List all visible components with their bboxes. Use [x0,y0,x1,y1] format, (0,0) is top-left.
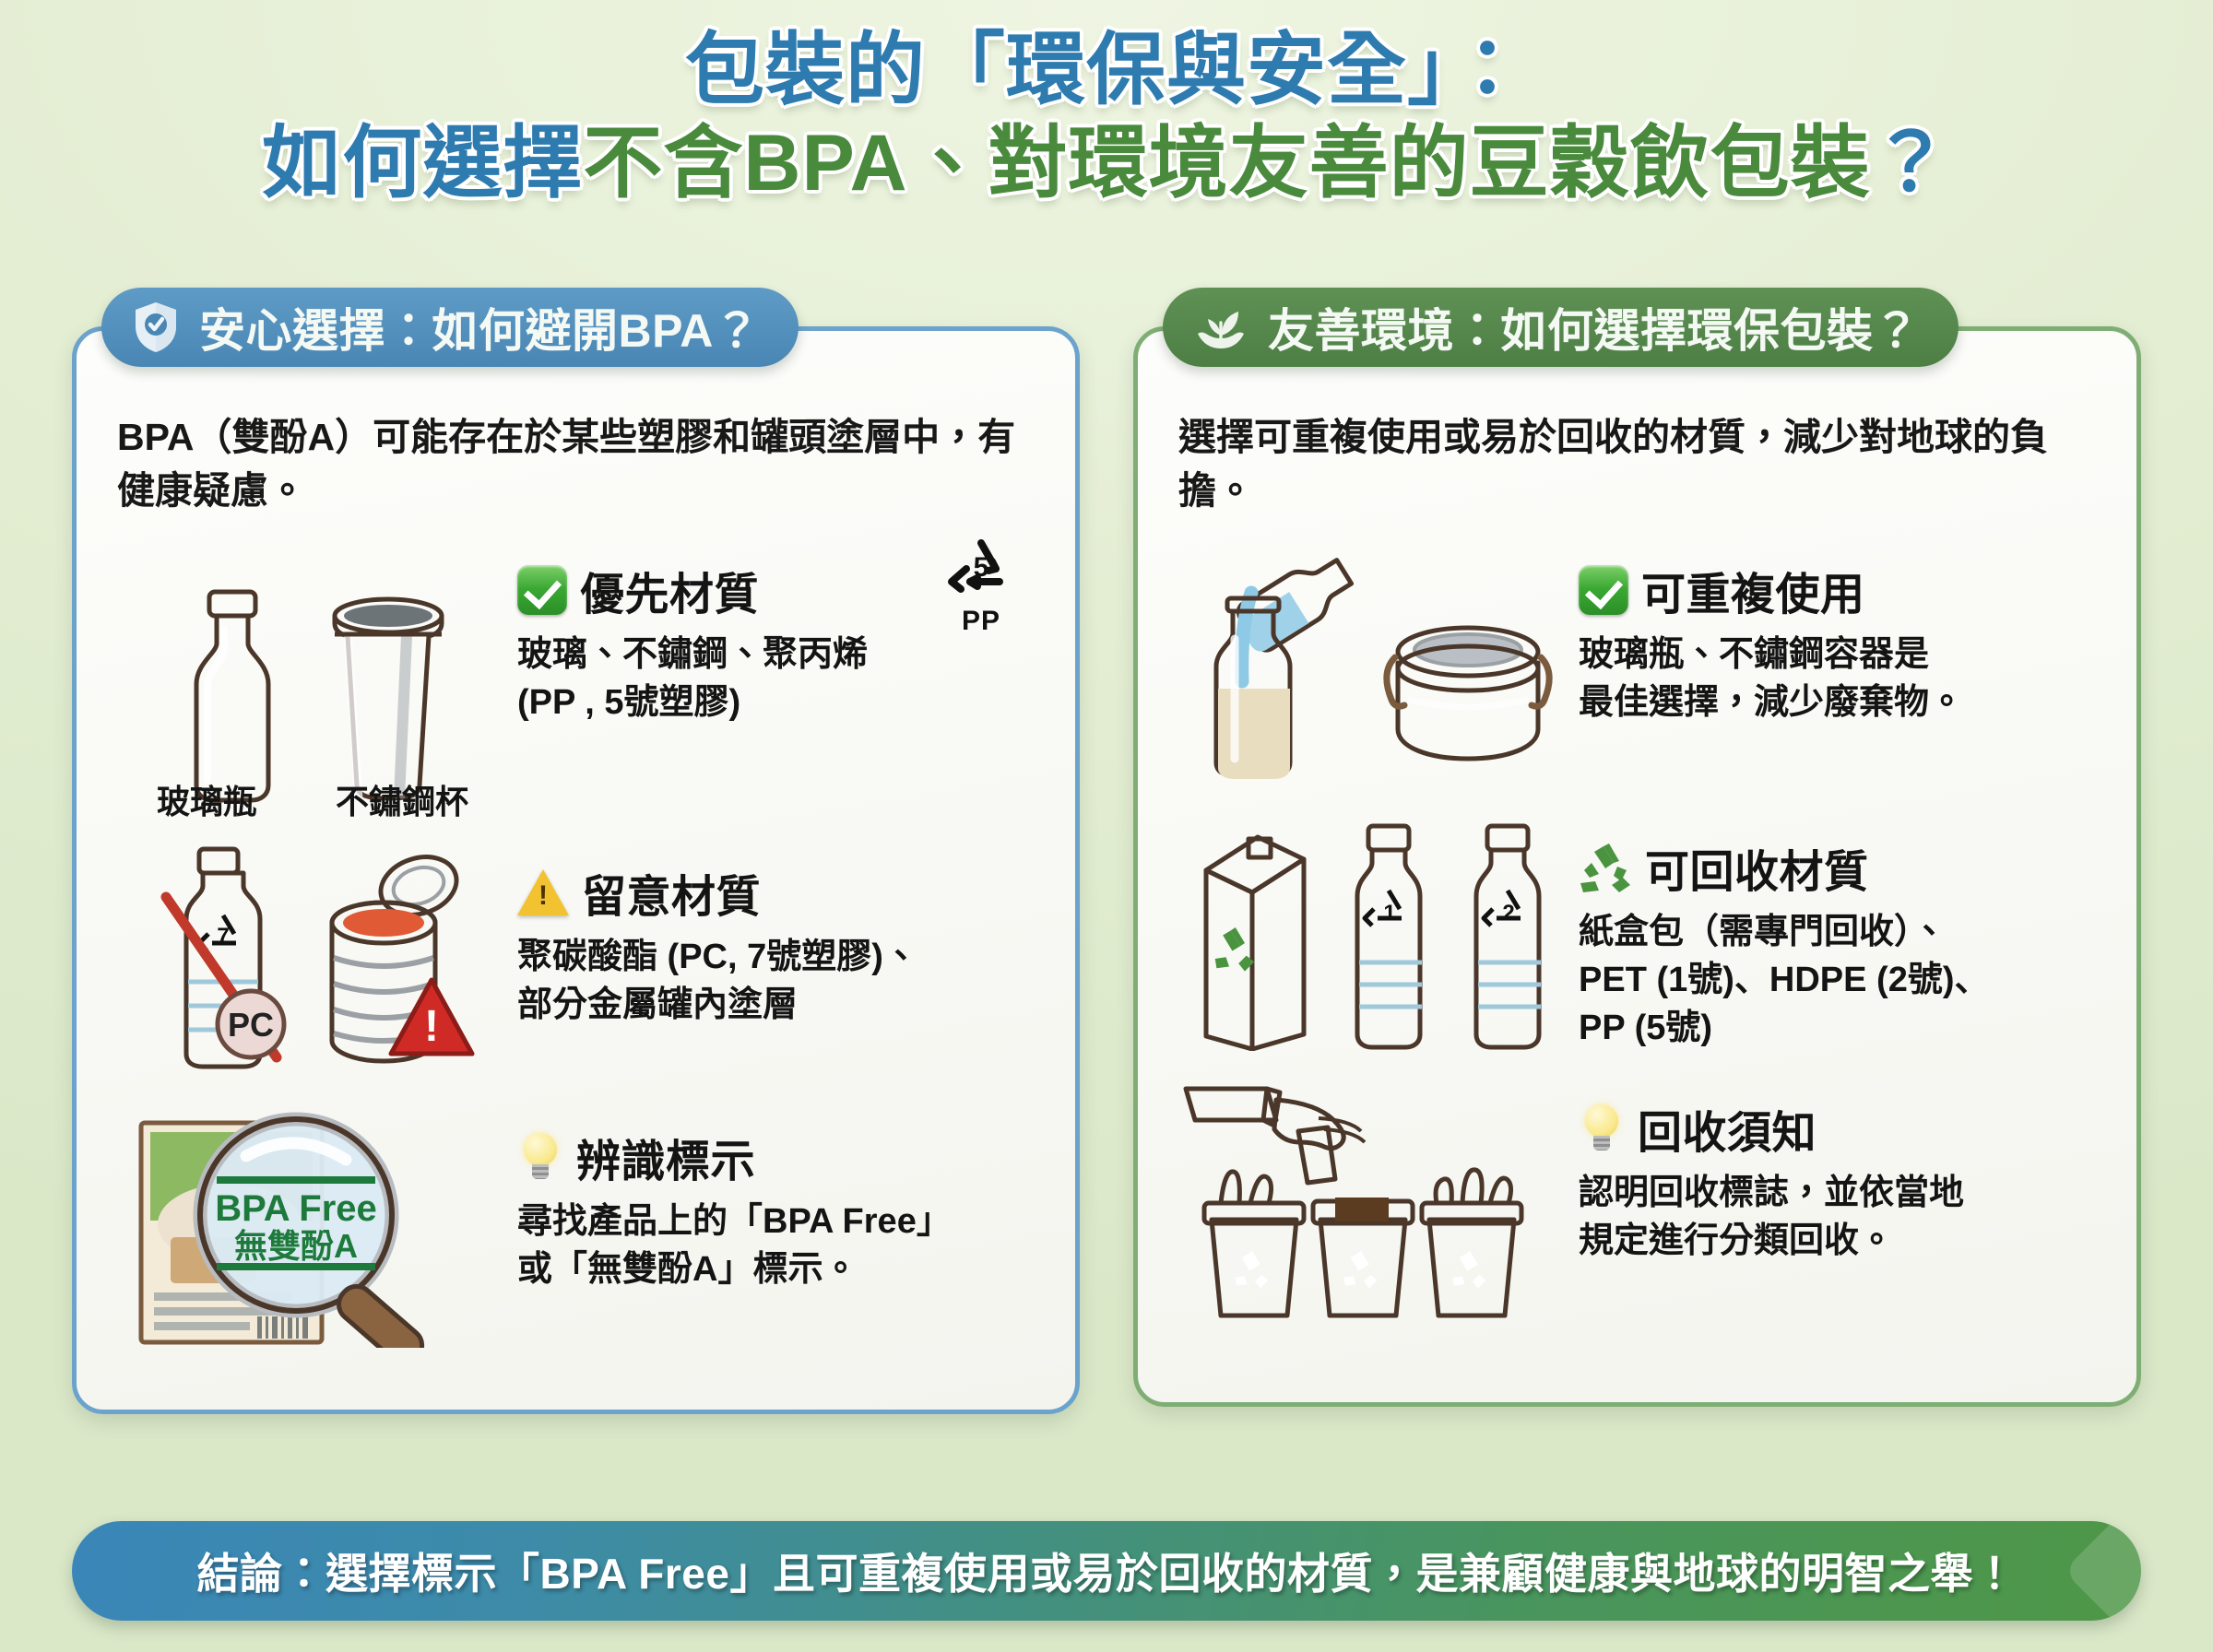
left-section-priority-materials: 玻璃瓶 不鏽鋼杯 5 [117,541,1035,818]
left-section-caution-materials: 7 PC [117,844,1035,1086]
pc-bottle-and-can-illustration: 7 PC [117,844,508,1086]
left-section-2-title: 留意材質 [582,860,761,925]
conclusion-text: 結論：選擇標示「BPA Free」且可重複使用或易於回收的材質，是兼顧健康與地球… [197,1540,2017,1601]
left-section-1-title: 優先材質 [580,558,759,622]
poster-title: 包裝的「環保與安全」： 如何選擇不含BPA、對環境友善的豆穀飲包裝？ [0,0,2213,211]
left-card-header: 安心選擇：如何避開BPA？ [101,288,799,367]
green-check-icon [1579,565,1628,615]
title-line-2-part-b: 不含BPA、對環境友善的豆穀飲包裝 [583,119,1870,207]
right-section-3-body: 認明回收標誌，並依當地 規定進行分類回收。 [1579,1170,2096,1265]
right-section-2-copy: 可回收材質 紙盒包（需專門回收）、 PET (1號)、HDPE (2號)、 PP… [1579,819,2096,1052]
right-section-recycling-tips: 回收須知 認明回收標誌，並依當地 規定進行分類回收。 [1178,1080,2096,1339]
svg-text:BPA Free: BPA Free [215,1188,377,1229]
right-section-2-body: 紙盒包（需專門回收）、 PET (1號)、HDPE (2號)、 PP (5號) [1579,909,2096,1052]
right-card: 選擇可重複使用或易於回收的材質，減少對地球的負擔。 [1133,326,2141,1407]
green-check-icon [517,565,567,615]
right-section-3-heading: 回收須知 [1579,1096,2096,1161]
bpa-free-label-magnifier-illustration: BPA Free 無雙酚A [117,1108,508,1360]
hdpe-bottle-number-2-icon: 2 [1456,819,1562,1056]
lightbulb-icon [1579,1103,1625,1154]
carton-and-pet-hdpe-bottles-illustration: 1 [1178,819,1569,1063]
svg-text:2: 2 [1502,901,1514,926]
pouring-bottle-icon [1183,541,1358,784]
left-section-3-body: 尋找產品上的「BPA Free」 或「無雙酚A」標示。 [517,1198,1035,1293]
glass-bottle-and-steel-cup-illustration: 玻璃瓶 不鏽鋼杯 [117,541,508,818]
left-card-intro: BPA（雙酚A）可能存在於某些塑膠和罐頭塗層中，有健康疑慮。 [117,410,1035,517]
left-section-identify-label: BPA Free 無雙酚A 辨識標示 尋找產品上的「BPA Fre [117,1108,1035,1360]
left-section-2-copy: 留意材質 聚碳酸酯 (PC, 7號塑膠)、 部分金屬罐內塗層 [517,844,1035,1029]
left-section-3-copy: 辨識標示 尋找產品上的「BPA Free」 或「無雙酚A」標示。 [517,1108,1035,1293]
right-section-recyclable: 1 [1178,819,2096,1063]
title-line-2: 如何選擇不含BPA、對環境友善的豆穀飲包裝？ [0,117,2213,210]
svg-text:!: ! [424,1002,439,1051]
infographic-poster: 包裝的「環保與安全」： 如何選擇不含BPA、對環境友善的豆穀飲包裝？ 安心選擇：… [0,0,2213,1652]
left-column: 安心選擇：如何避開BPA？ BPA（雙酚A）可能存在於某些塑膠和罐頭塗層中，有健… [72,288,1080,1414]
left-card: BPA（雙酚A）可能存在於某些塑膠和罐頭塗層中，有健康疑慮。 [72,326,1080,1414]
refill-bottle-and-steel-jar-illustration [1178,541,1569,791]
conclusion-banner: 結論：選擇標示「BPA Free」且可重複使用或易於回收的材質，是兼顧健康與地球… [72,1521,2141,1621]
product-label-with-magnifier-icon: BPA Free 無雙酚A [128,1108,497,1352]
warning-triangle-icon [517,869,569,915]
svg-text:7: 7 [217,924,229,949]
title-line-1: 包裝的「環保與安全」： [0,24,2213,117]
hand-and-three-bins-icon [1180,1080,1568,1331]
left-section-1-body: 玻璃、不鏽鋼、聚丙烯 (PP , 5號塑膠) [517,631,1035,726]
right-section-2-title: 可回收材質 [1645,835,1869,900]
left-section-2-heading: 留意材質 [517,860,1035,925]
title-line-2-part-c: ？ [1871,119,1951,207]
right-section-1-copy: 可重複使用 玻璃瓶、不鏽鋼容器是 最佳選擇，減少廢棄物。 [1579,541,2096,726]
pc-plastic-bottle-icon: 7 PC [149,844,297,1079]
right-card-header-label: 友善環境：如何選擇環保包裝？ [1268,294,1920,360]
caption-steel-cup: 不鏽鋼杯 [336,775,468,823]
right-section-3-title: 回收須知 [1638,1096,1817,1161]
right-card-intro: 選擇可重複使用或易於回收的材質，減少對地球的負擔。 [1178,410,2096,517]
shield-check-icon [133,301,179,354]
right-section-1-title: 可重複使用 [1641,558,1865,622]
right-card-header: 友善環境：如何選擇環保包裝？ [1163,288,1959,367]
left-section-3-heading: 辨識標示 [517,1125,1035,1189]
right-section-2-heading: 可回收材質 [1579,835,2096,900]
left-card-header-label: 安心選擇：如何避開BPA？ [199,294,760,360]
cards-container: 安心選擇：如何避開BPA？ BPA（雙酚A）可能存在於某些塑膠和罐頭塗層中，有健… [72,288,2141,1414]
right-section-3-copy: 回收須知 認明回收標誌，並依當地 規定進行分類回收。 [1579,1080,2096,1265]
right-column: 友善環境：如何選擇環保包裝？ 選擇可重複使用或易於回收的材質，減少對地球的負擔。 [1133,288,2141,1414]
title-line-2-part-a: 如何選擇 [262,119,583,207]
metal-can-with-warning-icon: ! [310,844,476,1079]
caption-glass-bottle: 玻璃瓶 [157,775,256,823]
svg-text:5: 5 [974,552,989,583]
pp-recycling-mark: 5 PP [933,534,1029,637]
svg-text:PC: PC [228,1006,274,1044]
svg-text:1: 1 [1383,901,1395,926]
right-section-1-heading: 可重複使用 [1579,558,2096,622]
left-section-3-title: 辨識標示 [576,1125,755,1189]
recycling-bins-illustration [1178,1080,1569,1339]
left-section-2-body: 聚碳酸酯 (PC, 7號塑膠)、 部分金屬罐內塗層 [517,934,1035,1029]
paper-carton-icon [1186,819,1324,1056]
right-section-1-body: 玻璃瓶、不鏽鋼容器是 最佳選擇，減少廢棄物。 [1579,631,2096,726]
lightbulb-icon [517,1131,563,1183]
recycle-icon [1579,843,1632,892]
pet-bottle-number-1-icon: 1 [1337,819,1443,1056]
right-section-reusable: 可重複使用 玻璃瓶、不鏽鋼容器是 最佳選擇，減少廢棄物。 [1178,541,2096,791]
illustration-captions: 玻璃瓶 不鏽鋼杯 [117,775,508,823]
left-section-1-copy: 5 PP 優先材質 玻璃、不鏽鋼、聚丙烯 (PP , 5號塑膠) [517,541,1035,726]
svg-text:無雙酚A: 無雙酚A [234,1227,358,1265]
pp-code-label: PP [962,606,1000,636]
hand-sprout-icon [1194,302,1248,352]
steel-clamp-jar-icon [1371,604,1565,784]
